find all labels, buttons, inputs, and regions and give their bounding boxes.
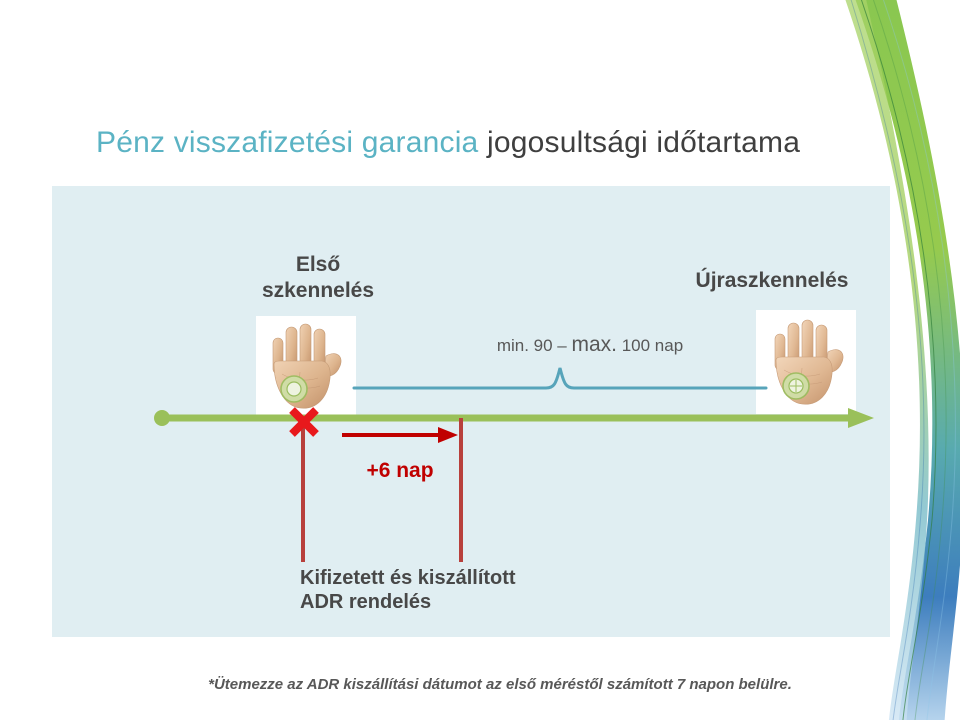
slide-title-accent: Pénz visszafizetési garancia	[96, 126, 478, 159]
timeline-end-arrow	[848, 408, 874, 428]
slide-title-dark: jogosultsági időtartama	[487, 126, 800, 159]
offset-arrow-icon	[340, 425, 460, 445]
first-scan-label: Első szkennelés	[238, 252, 398, 303]
red-x-icon	[286, 404, 322, 440]
order-caption: Kifizetett és kiszállított ADR rendelés	[300, 566, 630, 615]
duration-caption: min. 90 – max. 100 nap	[455, 333, 725, 357]
order-caption-line2: ADR rendelés	[300, 590, 630, 614]
rescan-palm-icon	[756, 310, 856, 414]
duration-prefix: min. 90 –	[497, 336, 572, 355]
first-scan-label-line2: szkennelés	[238, 278, 398, 304]
duration-brace	[352, 362, 768, 392]
footnote-text: *Ütemezze az ADR kiszállítási dátumot az…	[140, 676, 860, 693]
duration-suffix: 100 nap	[617, 336, 683, 355]
first-scan-palm-icon	[256, 316, 356, 416]
slide-title: Pénz visszafizetési garancia jogosultság…	[96, 126, 800, 160]
duration-emphasis: max.	[571, 333, 617, 356]
timeline-axis	[150, 404, 880, 432]
first-scan-label-line1: Első	[238, 252, 398, 278]
rescan-label: Újraszkennelés	[672, 268, 872, 294]
offset-label: +6 nap	[340, 459, 460, 483]
order-caption-line1: Kifizetett és kiszállított	[300, 566, 630, 590]
timeline-start-dot	[154, 410, 170, 426]
